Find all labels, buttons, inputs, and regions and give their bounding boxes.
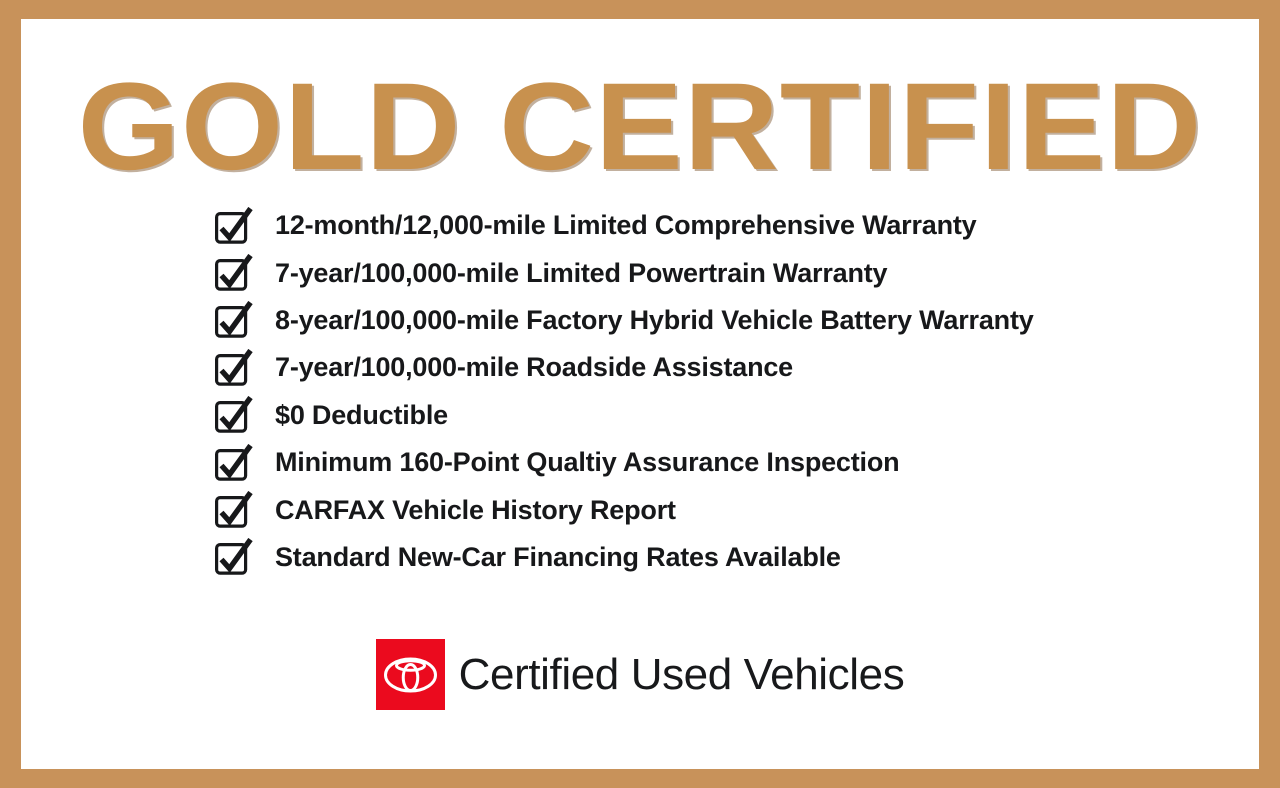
list-item: Minimum 160-Point Qualtiy Assurance Insp… (214, 439, 1234, 486)
page-title: GOLD CERTIFIED (0, 65, 1280, 189)
checked-checkbox-icon (214, 491, 254, 529)
feature-list: 12-month/12,000-mile Limited Comprehensi… (214, 202, 1234, 581)
badge-content-area: GOLD CERTIFIED 12-month/12,000-mile Limi… (21, 19, 1259, 769)
list-item-label: Minimum 160-Point Qualtiy Assurance Insp… (275, 449, 899, 476)
list-item: 8-year/100,000-mile Factory Hybrid Vehic… (214, 297, 1234, 344)
list-item-label: 12-month/12,000-mile Limited Comprehensi… (275, 212, 977, 239)
list-item: Standard New-Car Financing Rates Availab… (214, 534, 1234, 581)
checked-checkbox-icon (214, 207, 254, 245)
list-item-label: $0 Deductible (275, 402, 448, 429)
checked-checkbox-icon (214, 538, 254, 576)
toyota-logo-icon (376, 639, 445, 710)
checked-checkbox-icon (214, 254, 254, 292)
list-item: 7-year/100,000-mile Limited Powertrain W… (214, 249, 1234, 296)
list-item: CARFAX Vehicle History Report (214, 486, 1234, 533)
gold-certified-badge: GOLD CERTIFIED 12-month/12,000-mile Limi… (0, 0, 1280, 788)
list-item-label: 7-year/100,000-mile Limited Powertrain W… (275, 260, 887, 287)
list-item-label: CARFAX Vehicle History Report (275, 497, 676, 524)
list-item-label: 8-year/100,000-mile Factory Hybrid Vehic… (275, 307, 1034, 334)
list-item-label: 7-year/100,000-mile Roadside Assistance (275, 354, 793, 381)
list-item: $0 Deductible (214, 392, 1234, 439)
list-item-label: Standard New-Car Financing Rates Availab… (275, 544, 841, 571)
list-item: 12-month/12,000-mile Limited Comprehensi… (214, 202, 1234, 249)
footer-lockup-text: Certified Used Vehicles (459, 653, 905, 697)
list-item: 7-year/100,000-mile Roadside Assistance (214, 344, 1234, 391)
checked-checkbox-icon (214, 444, 254, 482)
checked-checkbox-icon (214, 349, 254, 387)
checked-checkbox-icon (214, 396, 254, 434)
checked-checkbox-icon (214, 301, 254, 339)
certified-used-vehicles-lockup: Certified Used Vehicles (21, 639, 1259, 710)
